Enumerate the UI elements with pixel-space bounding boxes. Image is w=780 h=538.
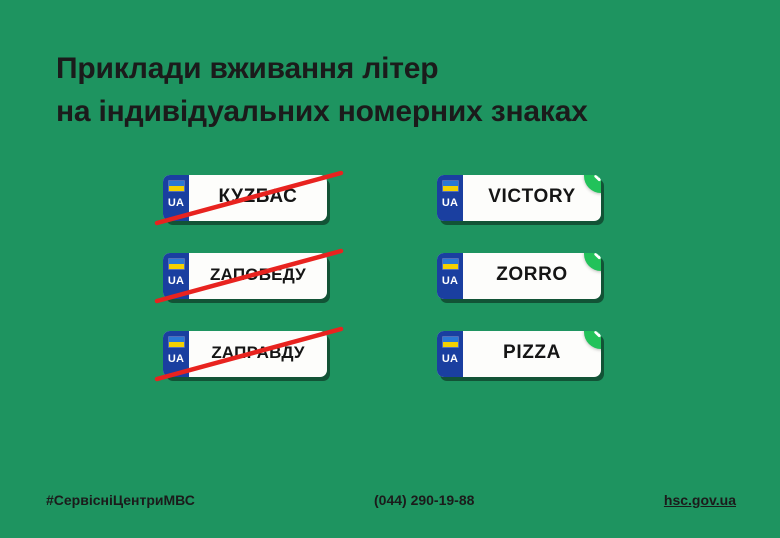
- plate-text: PIZZA: [463, 331, 601, 377]
- ukraine-flag-icon: [442, 336, 459, 348]
- plate-row: UA VICTORY: [437, 175, 747, 253]
- page-title-line-2: на індивідуальних номерних знаках: [56, 91, 736, 134]
- plate-text: VICTORY: [463, 175, 601, 221]
- license-plate-allowed-1[interactable]: UA VICTORY: [437, 175, 601, 221]
- country-code-label: UA: [442, 198, 458, 209]
- country-band: UA: [437, 175, 463, 221]
- country-band: UA: [437, 331, 463, 377]
- plate-text: ZORRO: [463, 253, 601, 299]
- disallowed-plates-column: UA КУZБАС UA ZАПОБЕДУ: [163, 175, 473, 409]
- footer: #СервісніЦентриМВС (044) 290-19-88 hsc.g…: [0, 492, 780, 516]
- plate-text: ZАПРАВДУ: [189, 331, 327, 377]
- country-band: UA: [163, 175, 189, 221]
- country-code-label: UA: [168, 276, 184, 287]
- license-plate-disallowed-1[interactable]: UA КУZБАС: [163, 175, 327, 221]
- plate-text: ZАПОБЕДУ: [189, 253, 327, 299]
- footer-website-link[interactable]: hsc.gov.ua: [664, 492, 736, 508]
- page-title-line-1: Приклади вживання літер: [56, 48, 736, 91]
- plate-row: UA КУZБАС: [163, 175, 473, 253]
- page-title: Приклади вживання літер на індивідуальни…: [56, 48, 736, 133]
- country-band: UA: [163, 331, 189, 377]
- plate-row: UA ZАПОБЕДУ: [163, 253, 473, 331]
- footer-hashtag: #СервісніЦентриМВС: [46, 492, 195, 508]
- plate-row: UA PIZZA: [437, 331, 747, 409]
- license-plate-disallowed-3[interactable]: UA ZАПРАВДУ: [163, 331, 327, 377]
- ukraine-flag-icon: [168, 180, 185, 192]
- country-band: UA: [437, 253, 463, 299]
- country-code-label: UA: [442, 276, 458, 287]
- country-code-label: UA: [168, 354, 184, 365]
- license-plate-allowed-2[interactable]: UA ZORRO: [437, 253, 601, 299]
- plate-row: UA ZАПРАВДУ: [163, 331, 473, 409]
- ukraine-flag-icon: [442, 258, 459, 270]
- plate-text: КУZБАС: [189, 175, 327, 221]
- plate-row: UA ZORRO: [437, 253, 747, 331]
- ukraine-flag-icon: [168, 258, 185, 270]
- plates-grid: UA КУZБАС UA ZАПОБЕДУ: [0, 175, 780, 425]
- country-code-label: UA: [168, 198, 184, 209]
- footer-phone[interactable]: (044) 290-19-88: [374, 492, 474, 508]
- country-code-label: UA: [442, 354, 458, 365]
- poster-canvas: Приклади вживання літер на індивідуальни…: [0, 0, 780, 538]
- ukraine-flag-icon: [168, 336, 185, 348]
- allowed-plates-column: UA VICTORY UA: [437, 175, 747, 409]
- license-plate-allowed-3[interactable]: UA PIZZA: [437, 331, 601, 377]
- license-plate-disallowed-2[interactable]: UA ZАПОБЕДУ: [163, 253, 327, 299]
- ukraine-flag-icon: [442, 180, 459, 192]
- country-band: UA: [163, 253, 189, 299]
